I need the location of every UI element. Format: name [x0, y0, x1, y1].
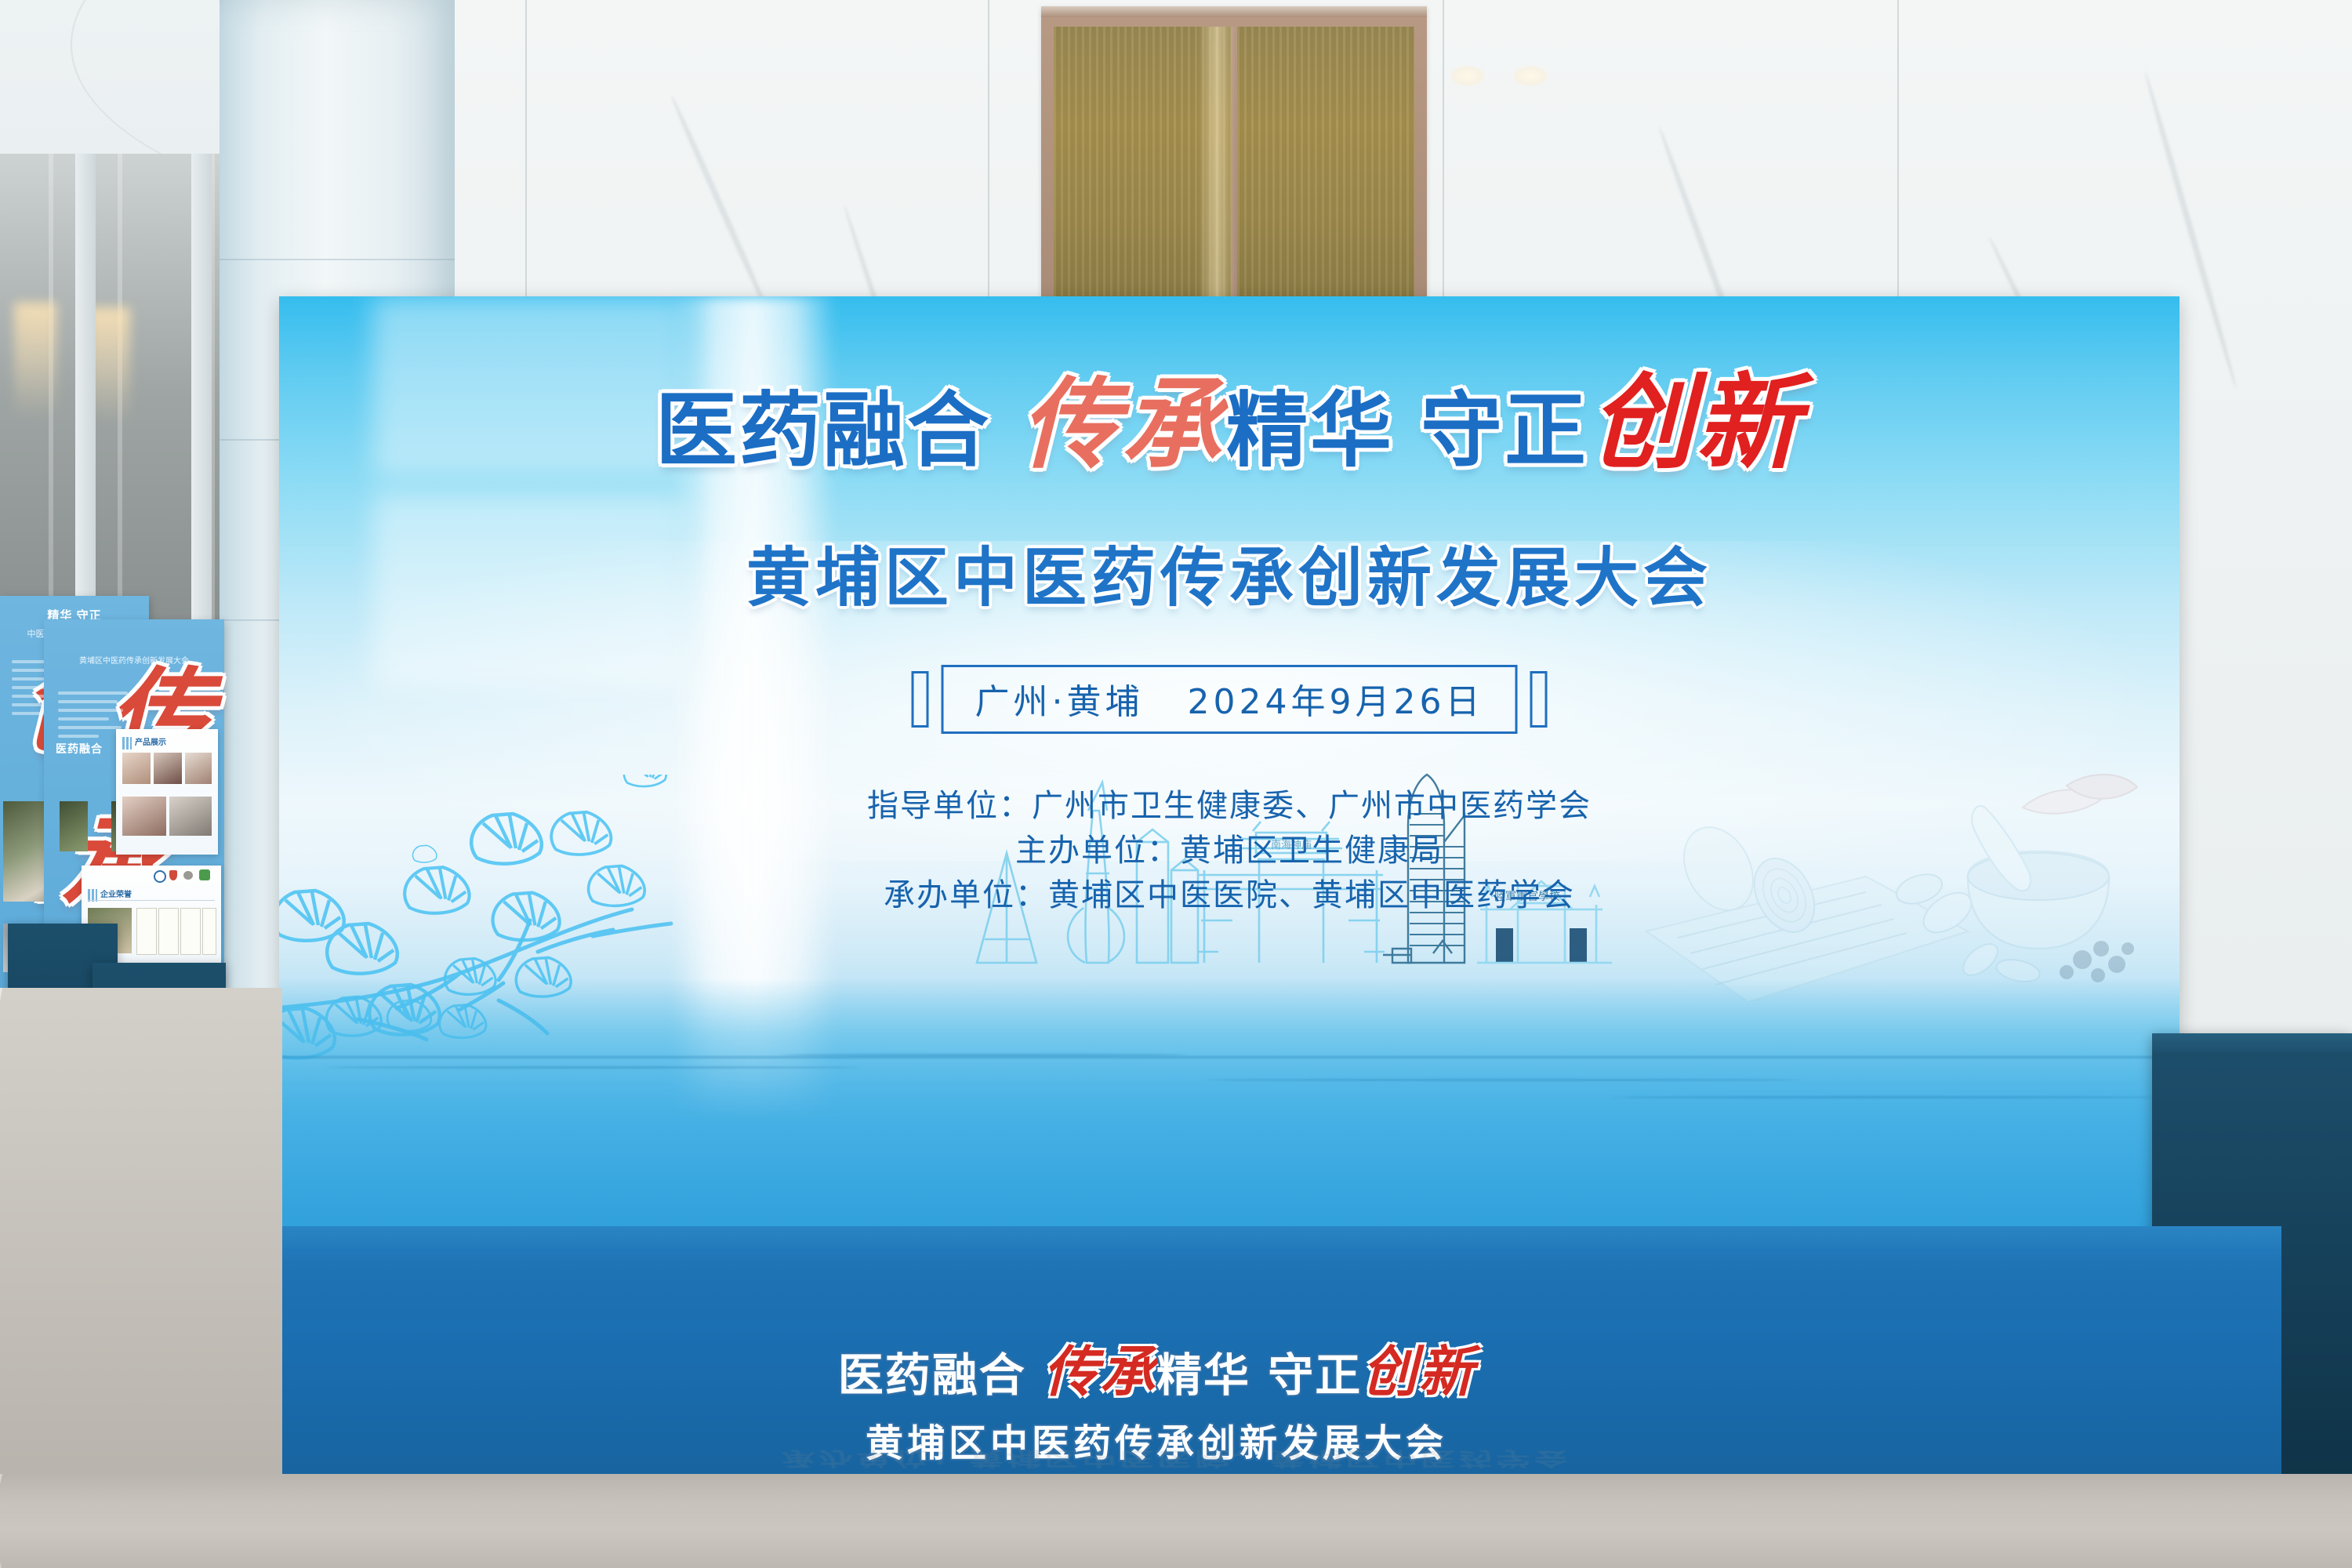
organizer-line-organizer: 承办单位：黄埔区中医医院、黄埔区中医药学会 [279, 873, 2180, 918]
floor-reflection-text: 承办单位：黄埔区中医医院、黄埔区中医药学会 [0, 1446, 2352, 1474]
product-section-title: 产品展示 [135, 735, 166, 747]
floor-foreground: 承办单位：黄埔区中医医院、黄埔区中医药学会 [0, 1474, 2352, 1568]
honor-section-title: 企业荣誉 [100, 887, 132, 899]
wall-sconce-glow-icon [14, 303, 56, 420]
organizer-line-host: 主办单位：黄埔区卫生健康局 [279, 829, 2180, 873]
stage-backdrop: 陸軍軍官學校 南海神庙 [279, 296, 2180, 1237]
badge-icon [154, 870, 166, 883]
headline-part-blue-3: 守正 [1421, 390, 1588, 471]
conference-backdrop-scene: 精华 守正 创新 中医药传承创新发展大会 医药融合 传承 精华 守正 创新 黄埔… [0, 0, 2352, 1568]
wooden-double-door[interactable] [1041, 6, 1427, 304]
board2-subtitle: 黄埔区中医药传承创新发展大会 [55, 654, 213, 666]
stage-headline-part-2: 传承 [1044, 1340, 1156, 1404]
door-highlight [1198, 27, 1236, 304]
backdrop-headline: 医药融合传承精华守正创新 [279, 372, 2180, 475]
headline-part-blue-2: 精华 [1226, 390, 1394, 471]
organizer-list: 指导单位：广州市卫生健康委、广州市中医药学会 主办单位：黄埔区卫生健康局 承办单… [279, 784, 2180, 917]
stage-headline: 医药融合 传承精华 守正创新 [31, 1328, 2281, 1407]
backdrop-water-wash [279, 978, 2180, 1237]
stage-headline-part-3: 精华 [1156, 1348, 1250, 1402]
badge-icon [199, 869, 210, 880]
headline-part-blue-1: 医药融合 [655, 390, 991, 471]
bracket-right-icon [1530, 671, 1547, 728]
stage-headline-part-1: 医药融合 [838, 1348, 1026, 1402]
backdrop-subtitle: 黄埔区中医药传承创新发展大会 [279, 525, 2180, 619]
organizer-line-guidance: 指导单位：广州市卫生健康委、广州市中医药学会 [279, 784, 2180, 829]
date-text: 2024年9月26日 [1188, 673, 1484, 724]
location-text: 广州·黄埔 [975, 673, 1144, 724]
bracket-left-icon [912, 671, 929, 728]
date-box: 广州·黄埔 2024年9月26日 [942, 665, 1518, 734]
stage-headline-part-5: 创新 [1362, 1340, 1475, 1404]
headline-part-coral: 传承 [1021, 376, 1223, 474]
floor-reflection: 承办单位：黄埔区中医医院、黄埔区中医药学会 [0, 1446, 2352, 1474]
board2-photo [60, 801, 88, 851]
badge-icon [169, 870, 177, 880]
stage-headline-part-4: 守正 [1268, 1348, 1362, 1402]
board2-headline-lead: 医药融合 [56, 742, 103, 755]
badge-icon [183, 871, 193, 880]
wall-downlight-icon [1450, 66, 1485, 86]
board2-product-panel[interactable]: 产品展示 [116, 729, 218, 855]
door-leaf-right[interactable] [1237, 27, 1414, 304]
wall-downlight-icon [1513, 66, 1548, 86]
headline-part-red: 创新 [1590, 372, 1802, 475]
date-location-bar: 广州·黄埔 2024年9月26日 [912, 665, 1548, 734]
